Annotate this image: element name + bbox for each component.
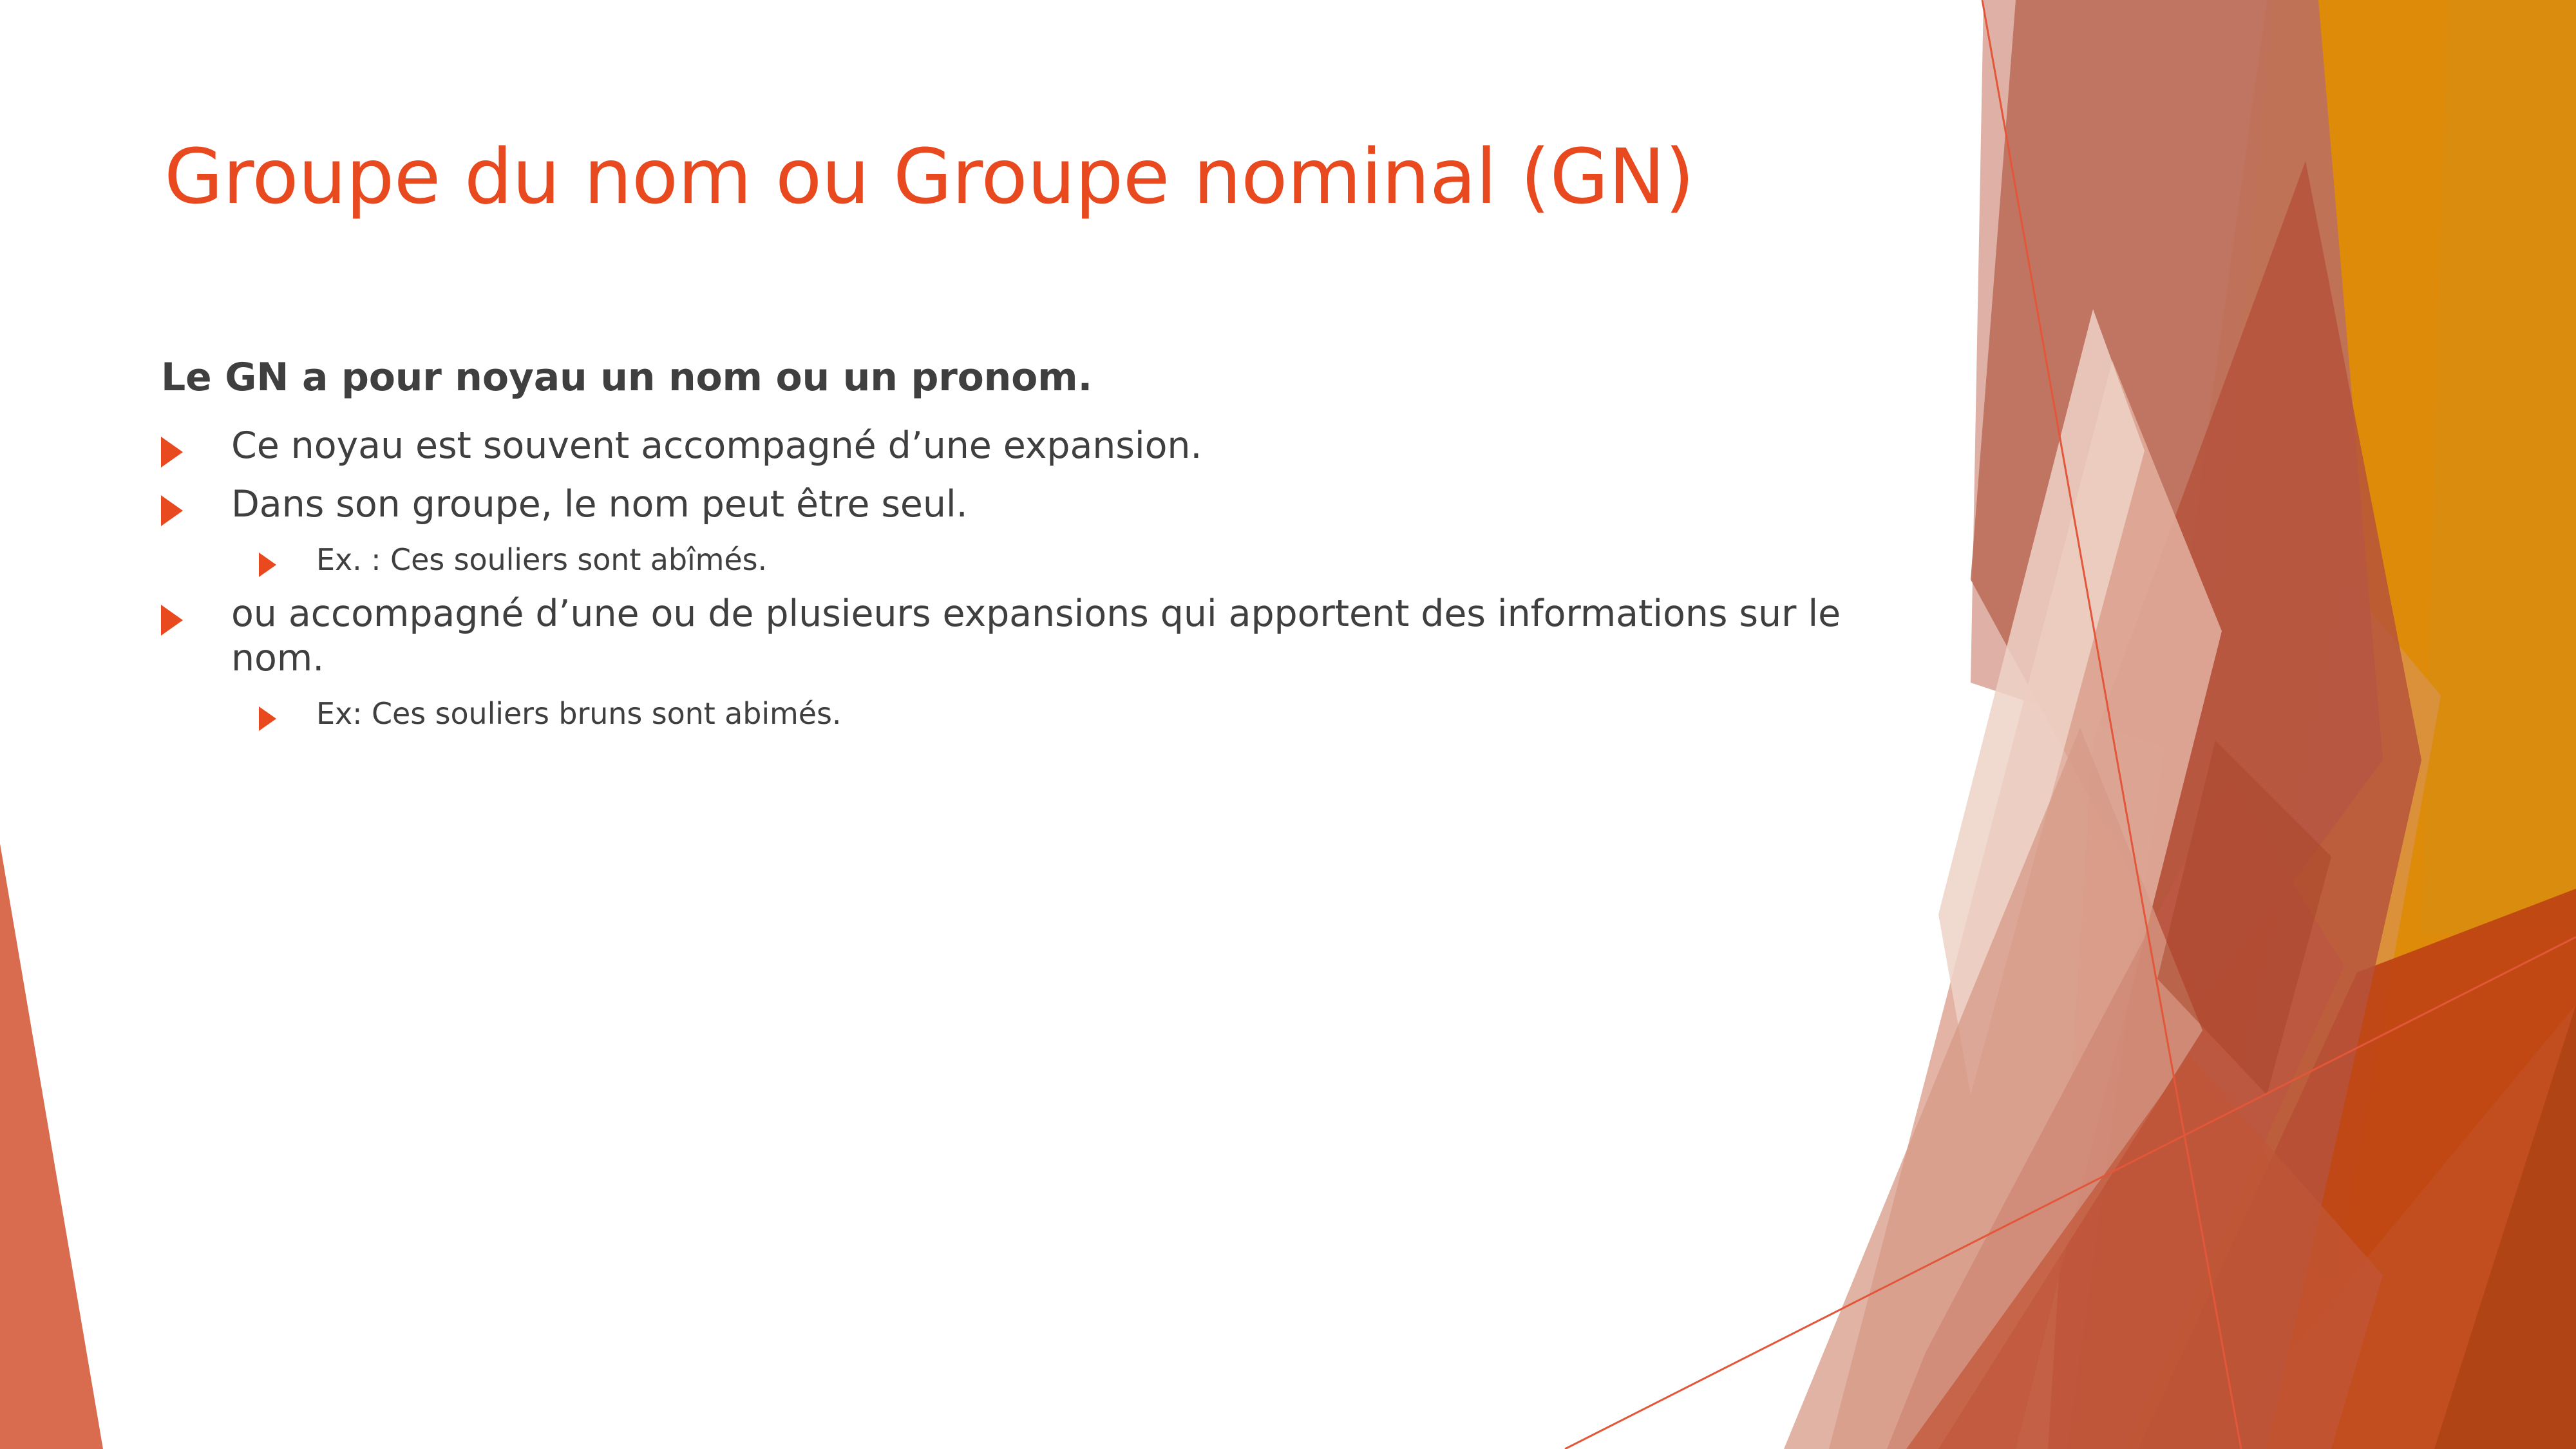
decor-shape-orange-field bbox=[2067, 0, 2576, 1449]
decor-shape-bottom-terracotta-slab bbox=[1906, 1056, 2383, 1449]
bullet-item: Ce noyau est souvent accompagné d’une ex… bbox=[161, 424, 1913, 469]
bullet-text: Ce noyau est souvent accompagné d’une ex… bbox=[231, 424, 1202, 469]
slide-body: Le GN a pour noyau un nom ou un pronom. … bbox=[161, 355, 1913, 746]
triangle-right-icon bbox=[161, 437, 183, 468]
bullet-text: Dans son groupe, le nom peut être seul. bbox=[231, 482, 968, 527]
decor-shape-dark-overlap bbox=[2157, 741, 2331, 1095]
decor-hairline-upper-diagonal bbox=[1982, 0, 2145, 914]
decor-shape-pale-rose-sliver bbox=[1938, 309, 2145, 1095]
decor-shape-deep-orange-mass bbox=[2138, 889, 2576, 1449]
decor-shape-terracotta-sweep bbox=[1887, 779, 2344, 1449]
triangle-right-icon bbox=[161, 495, 183, 526]
decor-shape-pale-rose-sheet bbox=[1971, 0, 2273, 760]
decor-shape-red-brown-diagonal bbox=[2048, 161, 2421, 1449]
triangle-right-icon bbox=[259, 706, 276, 731]
sub-bullet-item: Ex: Ces souliers bruns sont abimés. bbox=[161, 696, 1913, 732]
slide-title: Groupe du nom ou Groupe nominal (GN) bbox=[164, 134, 1935, 219]
decor-hairline-lower-diagonal bbox=[2145, 914, 2241, 1449]
sub-bullet-text: Ex. : Ces souliers sont abîmés. bbox=[316, 542, 767, 578]
decor-shape-dusty-rose-body bbox=[1971, 0, 2383, 1005]
triangle-right-icon bbox=[259, 553, 276, 577]
presentation-slide: Groupe du nom ou Groupe nominal (GN) Le … bbox=[0, 0, 2576, 1449]
bullet-item: Dans son groupe, le nom peut être seul. bbox=[161, 482, 1913, 527]
bullet-item: ou accompagné d’une ou de plusieurs expa… bbox=[161, 592, 1913, 681]
sub-bullet-item: Ex. : Ces souliers sont abîmés. bbox=[161, 542, 1913, 578]
lead-statement: Le GN a pour noyau un nom ou un pronom. bbox=[161, 355, 1913, 401]
decor-shape-amber-wedge bbox=[2235, 580, 2441, 1307]
bullet-text: ou accompagné d’une ou de plusieurs expa… bbox=[231, 592, 1913, 681]
triangle-right-icon bbox=[161, 605, 183, 636]
slide-content: Groupe du nom ou Groupe nominal (GN) Le … bbox=[0, 0, 1932, 1449]
decor-shape-deep-orange-column bbox=[2434, 1005, 2576, 1449]
sub-bullet-text: Ex: Ces souliers bruns sont abimés. bbox=[316, 696, 841, 732]
decor-shape-orange-slab bbox=[2421, 0, 2576, 934]
